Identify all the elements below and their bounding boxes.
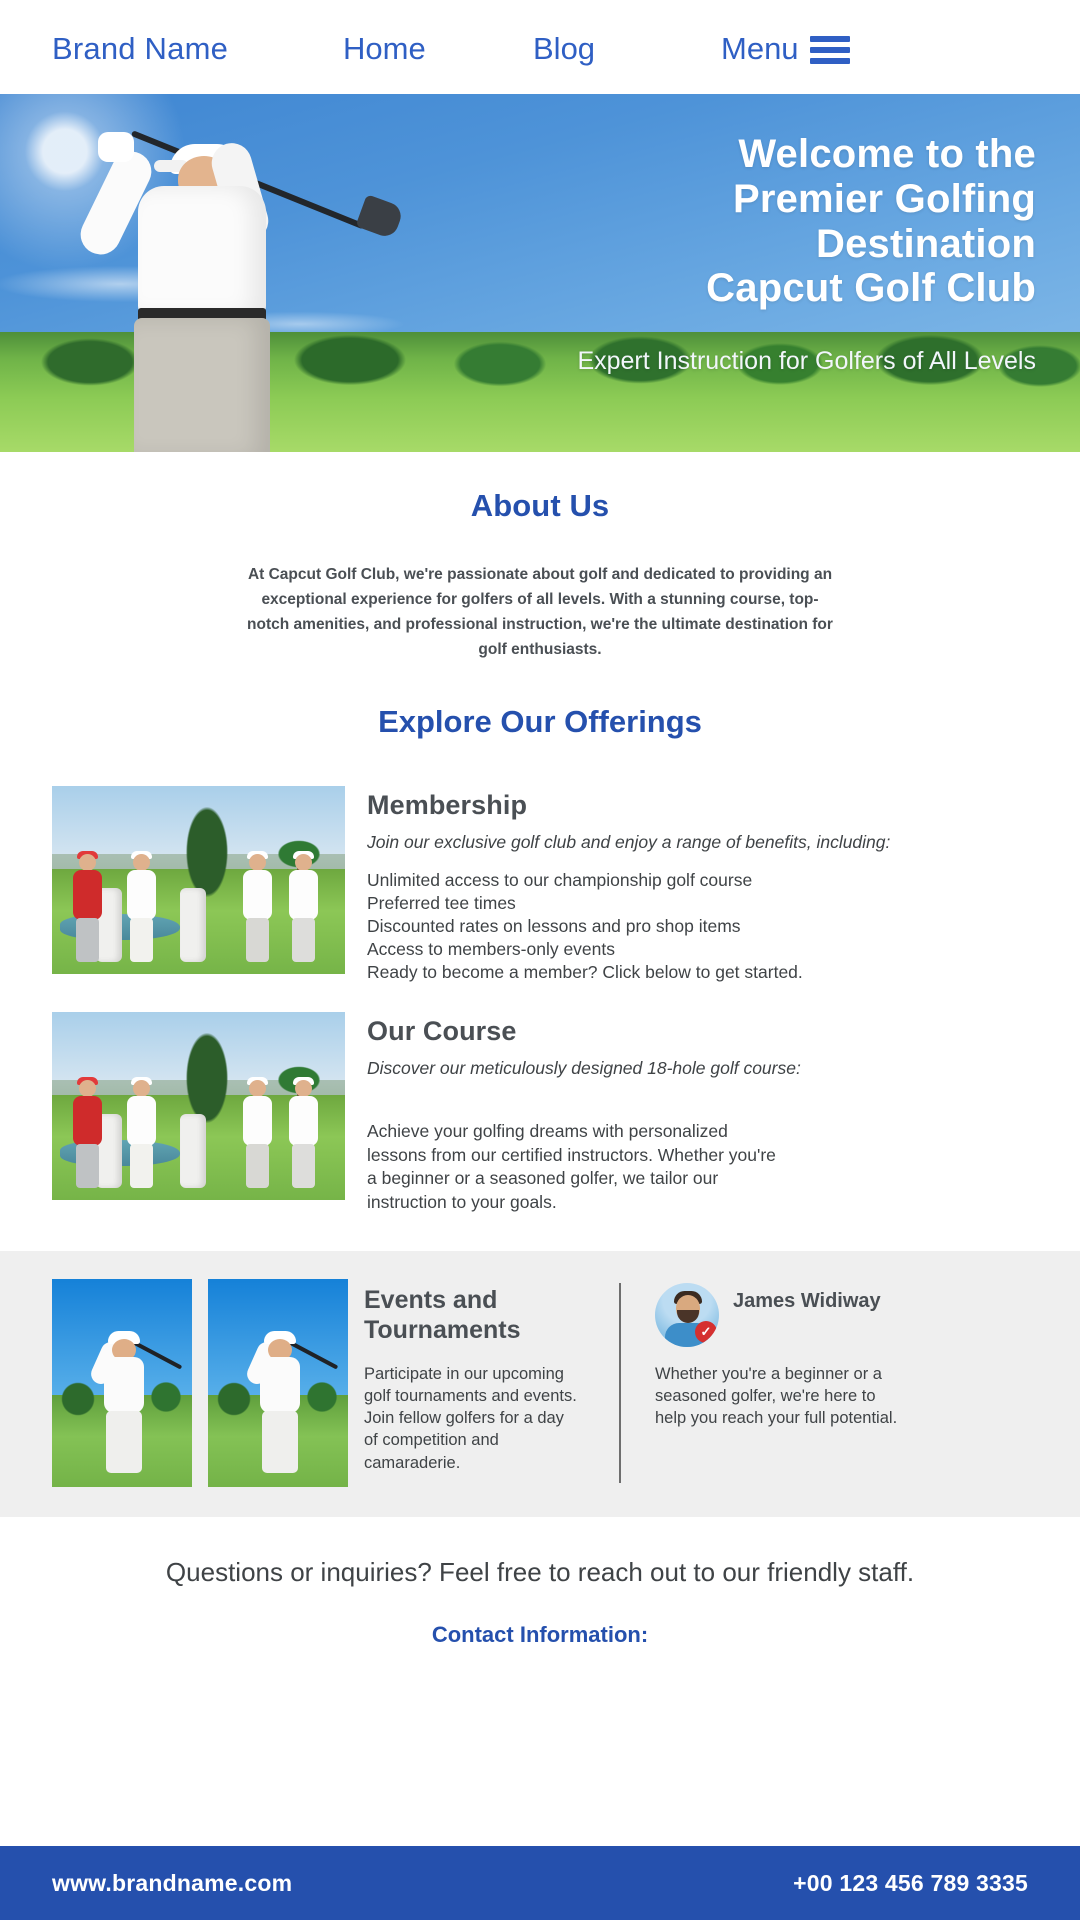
- testimonial-name: James Widiway: [733, 1283, 881, 1313]
- golf-bag: [180, 888, 206, 962]
- golfer-figure: [238, 854, 276, 962]
- vertical-divider: [619, 1283, 621, 1483]
- list-item: Ready to become a member? Click below to…: [367, 961, 1028, 984]
- nav-link-home[interactable]: Home: [343, 31, 426, 67]
- golfer-figure: [68, 854, 106, 962]
- nav-link-menu[interactable]: Menu: [721, 31, 799, 67]
- golfer-pants: [134, 318, 270, 452]
- event-golfer-swinging: [246, 1323, 312, 1473]
- testimonial-header: ✓ James Widiway: [655, 1283, 905, 1347]
- hero-title-line: Capcut Golf Club: [476, 266, 1036, 311]
- list-item: Discounted rates on lessons and pro shop…: [367, 915, 1028, 938]
- hamburger-menu-icon[interactable]: [810, 36, 850, 64]
- membership-lead: Join our exclusive golf club and enjoy a…: [367, 831, 1028, 854]
- hero-subtitle: Expert Instruction for Golfers of All Le…: [476, 345, 1036, 377]
- page-root: Brand Name Home Blog Menu: [0, 0, 1080, 1920]
- membership-thumbnail-image: [52, 786, 345, 974]
- hero-title: Welcome to the Premier Golfing Destinati…: [476, 132, 1036, 311]
- navbar: Brand Name Home Blog Menu: [0, 0, 1080, 94]
- about-title: About Us: [0, 488, 1080, 524]
- golfer-figure: [122, 854, 160, 962]
- golfer-figure: [284, 1080, 322, 1188]
- membership-benefits-list: Unlimited access to our championship gol…: [367, 869, 1028, 984]
- event-golfer-swinging: [90, 1323, 156, 1473]
- event-photo-left: [52, 1279, 192, 1487]
- our-course-lead: Discover our meticulously designed 18-ho…: [367, 1057, 1028, 1080]
- events-text-block: Events and Tournaments Participate in ou…: [364, 1279, 579, 1487]
- list-item: Access to members-only events: [367, 938, 1028, 961]
- about-section: About Us At Capcut Golf Club, we're pass…: [0, 452, 1080, 662]
- hamburger-bar: [810, 47, 850, 53]
- event-photo-right: [208, 1279, 348, 1487]
- our-course-paragraph: Achieve your golfing dreams with persona…: [367, 1120, 1028, 1215]
- offering-our-course: Our Course Discover our meticulously des…: [0, 1012, 1080, 1215]
- list-item: Unlimited access to our championship gol…: [367, 869, 1028, 892]
- hero-banner: Welcome to the Premier Golfing Destinati…: [0, 94, 1080, 452]
- footer-phone-number[interactable]: +00 123 456 789 3335: [793, 1870, 1028, 1897]
- verified-check-icon: ✓: [695, 1321, 717, 1343]
- our-course-thumbnail-image: [52, 1012, 345, 1200]
- golfer-glove: [98, 132, 134, 162]
- hamburger-bar: [810, 36, 850, 42]
- hero-title-line: Destination: [476, 222, 1036, 267]
- footer-bar: www.brandname.com +00 123 456 789 3335: [0, 1846, 1080, 1920]
- golfer-figure: [284, 854, 322, 962]
- hero-title-line: Welcome to the: [476, 132, 1036, 177]
- offering-membership: Membership Join our exclusive golf club …: [0, 786, 1080, 984]
- events-section: Events and Tournaments Participate in ou…: [0, 1251, 1080, 1517]
- hero-text-block: Welcome to the Premier Golfing Destinati…: [476, 132, 1036, 377]
- testimonial-block: ✓ James Widiway Whether you're a beginne…: [655, 1279, 905, 1487]
- golfer-figure: [238, 1080, 276, 1188]
- footer-website-link[interactable]: www.brandname.com: [52, 1870, 292, 1897]
- contact-section: Questions or inquiries? Feel free to rea…: [0, 1517, 1080, 1648]
- hero-title-line: Premier Golfing: [476, 177, 1036, 222]
- contact-question: Questions or inquiries? Feel free to rea…: [0, 1555, 1080, 1590]
- list-item: Preferred tee times: [367, 892, 1028, 915]
- golf-bag: [180, 1114, 206, 1188]
- membership-heading: Membership: [367, 790, 1028, 821]
- our-course-heading: Our Course: [367, 1016, 1028, 1047]
- testimonial-quote: Whether you're a beginner or a seasoned …: [655, 1363, 905, 1430]
- hamburger-bar: [810, 58, 850, 64]
- brand-logo[interactable]: Brand Name: [52, 31, 228, 67]
- avatar: ✓: [655, 1283, 719, 1347]
- golfer-shirt: [138, 186, 266, 316]
- our-course-text-block: Our Course Discover our meticulously des…: [367, 1012, 1028, 1215]
- golfer-figure: [68, 1080, 106, 1188]
- about-paragraph: At Capcut Golf Club, we're passionate ab…: [245, 562, 835, 662]
- hero-golfer-photo: [60, 122, 320, 452]
- nav-link-blog[interactable]: Blog: [533, 31, 595, 67]
- events-heading: Events and Tournaments: [364, 1285, 579, 1345]
- explore-offerings-title: Explore Our Offerings: [0, 704, 1080, 740]
- events-paragraph: Participate in our upcoming golf tournam…: [364, 1363, 579, 1474]
- contact-information-heading: Contact Information:: [0, 1622, 1080, 1648]
- membership-text-block: Membership Join our exclusive golf club …: [367, 786, 1028, 984]
- golfer-figure: [122, 1080, 160, 1188]
